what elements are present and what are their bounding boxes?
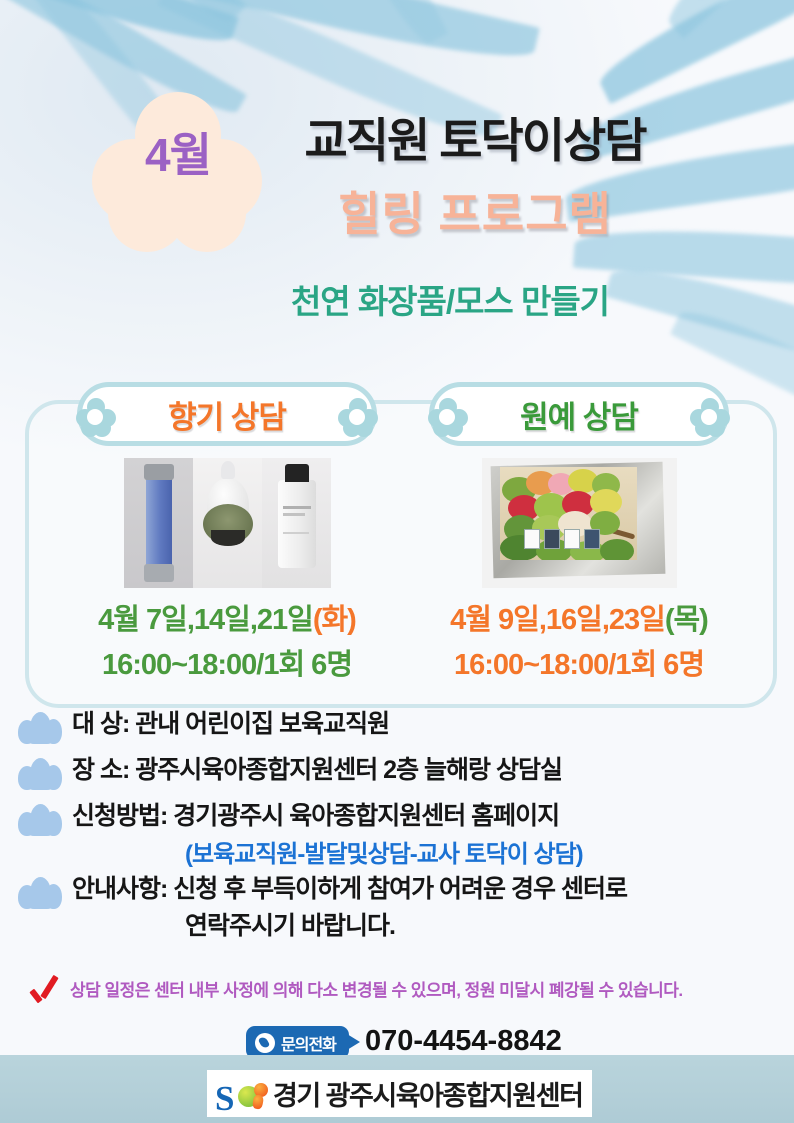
natural-cosmetics-photo [124,458,331,588]
card-time: 16:00~18:00/1회 6명 [49,641,405,683]
info-line: 신청방법: 경기광주시 육아종합지원센터 홈페이지 [72,800,794,833]
card-dates-day: (목) [665,604,708,636]
phone-icon [255,1033,275,1053]
info-line-sub: (보육교직원-발달및상담-교사 토닥이 상담) [185,834,794,869]
card-dates: 4월 7일,14일,21일(화) [49,596,405,638]
info-line: 장 소: 광주시육아종합지원센터 2층 늘해랑 상담실 [72,754,794,787]
info-line: 대 상: 관내 어린이집 보육교직원 [72,708,794,741]
moss-frame-art-photo [482,458,677,588]
poster-root: 4월 교직원 토닥이상담 힐링 프로그램 천연 화장품/모스 만들기 향기 상담 [0,0,794,1123]
card-heading-badge: 향기 상담 [77,382,377,446]
card-dates-day: (화) [313,604,356,636]
phone-badge-label: 문의전화 [281,1031,336,1055]
organization-logo: S 경기 광주시육아종합지원센터 [207,1070,592,1117]
program-cards-panel: 향기 상담 4월 7일,14일,21일(화) 16:00~18:00/1회 6명 [25,400,777,708]
info-line-sub: 연락주시기 바랍니다. [185,906,794,942]
check-icon [26,980,60,1014]
card-heading-label: 향기 상담 [168,392,286,437]
center-logo-icon: S [213,1075,273,1113]
info-line: 안내사항: 신청 후 부득이하게 참여가 어려운 경우 센터로 [72,873,794,906]
month-label: 4월 [92,132,264,178]
list-item: 신청방법: 경기광주시 육아종합지원센터 홈페이지 (보육교직원-발달및상담-교… [0,800,794,869]
cloud-flower-bullet-icon [18,804,62,836]
cloud-flower-bullet-icon [18,758,62,790]
card-heading-badge: 원예 상담 [429,382,729,446]
flower-icon [690,398,730,438]
flower-icon [338,398,378,438]
flower-icon [76,398,116,438]
program-card-scent: 향기 상담 4월 7일,14일,21일(화) 16:00~18:00/1회 6명 [49,382,405,683]
card-heading-label: 원예 상담 [520,392,638,437]
info-list: 대 상: 관내 어린이집 보육교직원 장 소: 광주시육아종합지원센터 2층 늘… [0,708,794,946]
flower-icon [428,398,468,438]
cloud-flower-bullet-icon [18,712,62,744]
poster-header: 4월 교직원 토닥이상담 힐링 프로그램 천연 화장품/모스 만들기 [0,0,794,360]
card-dates-prefix: 4월 7일,14일,21일 [98,604,313,636]
card-dates: 4월 9일,16일,23일(목) [401,596,757,638]
list-item: 장 소: 광주시육아종합지원센터 2층 늘해랑 상담실 [0,754,794,796]
disclaimer-text: 상담 일정은 센터 내부 사정에 의해 다소 변경될 수 있으며, 정원 미달시… [70,978,770,1004]
cloud-flower-bullet-icon [18,877,62,909]
page-title: 교직원 토닥이상담 [195,102,755,171]
card-time: 16:00~18:00/1회 6명 [401,641,757,683]
page-subtitle: 힐링 프로그램 [195,178,755,244]
page-tagline: 천연 화장품/모스 만들기 [150,275,750,323]
program-card-horticulture: 원예 상담 4 [401,382,757,683]
phone-number[interactable]: 070-4454-8842 [365,1025,562,1058]
card-dates-prefix: 4월 9일,16일,23일 [450,604,665,636]
list-item: 대 상: 관내 어린이집 보육교직원 [0,708,794,750]
list-item: 안내사항: 신청 후 부득이하게 참여가 어려운 경우 센터로 연락주시기 바랍… [0,873,794,943]
organization-name: 경기 광주시육아종합지원센터 [273,1074,582,1113]
disclaimer-note: 상담 일정은 센터 내부 사정에 의해 다소 변경될 수 있으며, 정원 미달시… [26,978,770,1004]
